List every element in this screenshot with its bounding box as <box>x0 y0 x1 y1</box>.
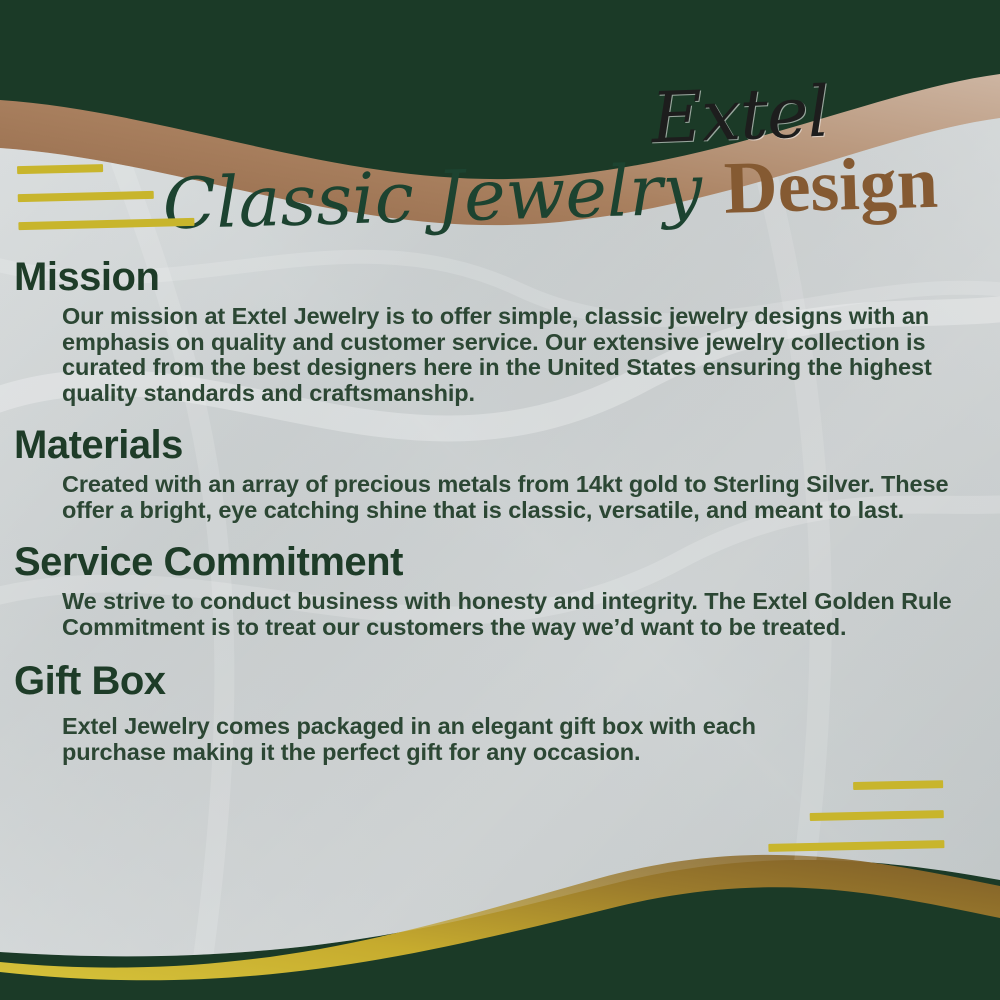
section-heading-service: Service Commitment <box>14 537 1000 587</box>
title-script-part: Classic Jewelry <box>162 149 704 244</box>
gold-rule <box>18 191 154 202</box>
gold-rule <box>853 780 943 790</box>
section-service-commitment: Service Commitment We strive to conduct … <box>0 537 1000 640</box>
section-heading-materials: Materials <box>14 420 1000 470</box>
decorative-rules-bottom-right <box>767 780 945 874</box>
section-body-materials: Created with an array of precious metals… <box>62 472 972 523</box>
section-body-gift-box: Extel Jewelry comes packaged in an elega… <box>62 714 782 765</box>
gold-rule <box>768 840 944 852</box>
section-heading-gift-box: Gift Box <box>14 656 1000 706</box>
gold-rule <box>18 218 194 230</box>
section-mission: Mission Our mission at Extel Jewelry is … <box>0 252 1000 406</box>
section-body-service: We strive to conduct business with hones… <box>62 589 972 640</box>
poster-canvas: Extel Classic Jewelry Design Mission Our… <box>0 0 1000 1000</box>
section-heading-mission: Mission <box>14 252 1000 302</box>
section-body-mission: Our mission at Extel Jewelry is to offer… <box>62 304 972 406</box>
content-sections: Mission Our mission at Extel Jewelry is … <box>0 252 1000 781</box>
gold-rule <box>810 810 944 821</box>
section-materials: Materials Created with an array of preci… <box>0 420 1000 523</box>
decorative-rules-top-left <box>17 162 195 250</box>
gold-rule <box>17 164 103 174</box>
section-gift-box: Gift Box Extel Jewelry comes packaged in… <box>0 656 1000 765</box>
title-serif-part: Design <box>723 143 939 229</box>
